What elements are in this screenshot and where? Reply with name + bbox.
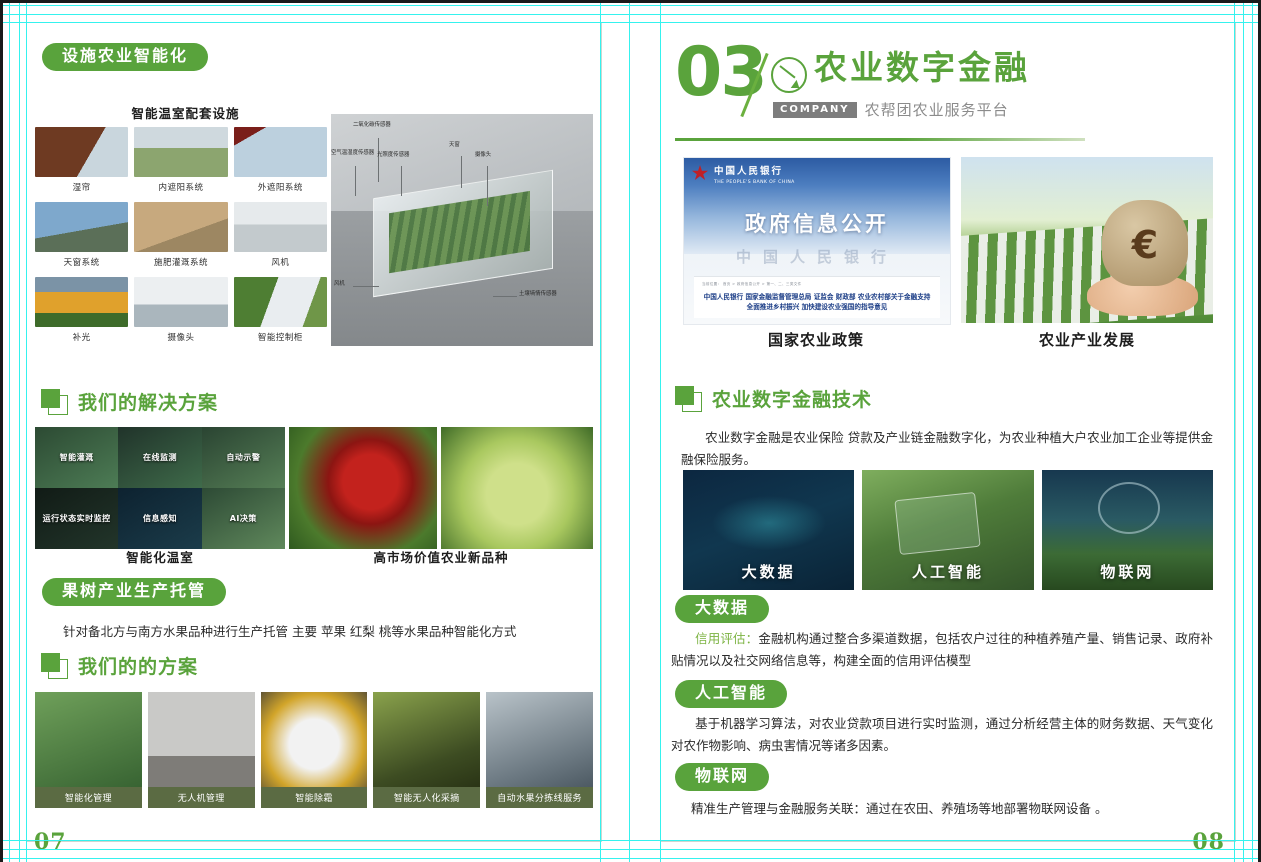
facility-thumb: [35, 202, 128, 252]
diagram-label-co2: 二氧化碳传感器: [353, 122, 391, 129]
caption-high-value-variety: 高市场价值农业新品种: [289, 547, 593, 566]
page-number-right: 08: [1192, 829, 1225, 855]
guide-horizontal: [0, 840, 1261, 841]
tech-image-label: 物联网: [1100, 561, 1154, 582]
guide-vertical: [600, 0, 601, 862]
block-text-bigdata: 信用评估：金融机构通过整合多渠道数据，包括农户过往的种植养殖产量、销售记录、政府…: [671, 628, 1213, 672]
collage-label: 智能灌溉: [60, 452, 94, 463]
facility-item-label: 天窗系统: [64, 256, 100, 268]
facility-item-label: 外遮阳系统: [258, 181, 303, 193]
plan-item-label: 智能除霜: [261, 787, 368, 808]
bank-policy-title: 中国人民银行 国家金融监督管理总局 证监会 财政部 农业农村部关于金融支持全面推…: [702, 292, 932, 312]
facility-thumb: [234, 202, 327, 252]
guide-vertical: [1243, 0, 1244, 862]
guide-vertical: [9, 0, 10, 862]
callout-line: [487, 166, 488, 206]
facility-item: 内遮阳系统: [134, 127, 227, 198]
bank-article-card: 当前位置： 首页 > 政府信息公开 > 第一、二、三类文件 中国人民银行 国家金…: [694, 276, 940, 318]
tech-image-ai: 人工智能: [862, 470, 1033, 590]
callout-line: [355, 166, 356, 196]
fintech-intro-paragraph: 农业数字金融是农业保险 贷款及产业链金融数字化，为农业种植大户农业加工企业等提供…: [681, 427, 1213, 471]
diagram-label-text: 空气温湿度传感器: [331, 150, 374, 157]
guide-horizontal: [0, 22, 1261, 23]
collage-label: 信息感知: [143, 513, 177, 524]
page-edge-top: [0, 0, 1261, 3]
collage-cell: 智能灌溉: [35, 427, 118, 488]
bank-banner-title: 政府信息公开: [684, 208, 950, 238]
facility-item: 施肥灌溉系统: [134, 202, 227, 273]
left-page: 设施农业智能化 智能温室配套设施 湿帘 内遮阳系统 外遮阳系统 天窗系统: [26, 22, 602, 842]
facility-item-label: 内遮阳系统: [158, 181, 203, 193]
heading-fintech: 农业数字金融技术: [675, 385, 872, 412]
block-body-iot: 精准生产管理与金融服务关联：通过在农田、养殖场等地部署物联网设备 。: [691, 801, 1107, 816]
collage-label: 自动示警: [226, 452, 260, 463]
facility-item: 摄像头: [134, 277, 227, 348]
diagram-label-text: 风机: [334, 281, 345, 288]
collage-cell: 在线监测: [118, 427, 201, 488]
guide-vertical: [19, 0, 20, 862]
greenhouse-3d-diagram: 二氧化碳传感器 空气温湿度传感器 光照度传感器 天窗 摄像头 风机: [331, 114, 593, 346]
facility-item-label: 湿帘: [73, 181, 91, 193]
facility-thumb: [134, 127, 227, 177]
guide-horizontal: [0, 5, 1261, 6]
collage-cell: 自动示警: [202, 427, 285, 488]
section-pill-facility: 设施农业智能化: [42, 43, 208, 71]
facility-item-label: 智能控制柜: [258, 331, 303, 343]
page-edge-left: [0, 0, 3, 862]
square-bullet-icon: [675, 386, 701, 411]
facility-item: 天窗系统: [35, 202, 128, 273]
facility-item-label: 施肥灌溉系统: [154, 256, 208, 268]
facility-thumb: [134, 202, 227, 252]
company-badge: COMPANY: [773, 102, 857, 118]
heading-text: 我们的的方案: [78, 652, 198, 679]
facility-grid: 湿帘 内遮阳系统 外遮阳系统 天窗系统 施肥灌溉系统 风机: [35, 127, 327, 348]
facility-item: 风机: [234, 202, 327, 273]
caption-national-policy: 国家农业政策: [683, 329, 949, 350]
bank-watermark: 中国人民银行: [684, 246, 950, 267]
collage-label: AI决策: [230, 513, 257, 524]
facility-item: 外遮阳系统: [234, 127, 327, 198]
guide-vertical: [1234, 0, 1235, 862]
guide-horizontal: [0, 849, 1261, 850]
caption-industry-development: 农业产业发展: [961, 329, 1213, 350]
facility-thumb: [234, 277, 327, 327]
facility-item-label: 补光: [73, 331, 91, 343]
block-lead-bigdata: 信用评估：: [695, 631, 758, 646]
facility-thumb: [35, 127, 128, 177]
block-pill-iot: 物联网: [675, 763, 769, 791]
section-number: 03: [675, 39, 766, 107]
callout-line: [401, 166, 402, 196]
bank-breadcrumb: 当前位置： 首页 > 政府信息公开 > 第一、二、三类文件: [702, 282, 932, 287]
tech-image-label: 人工智能: [912, 561, 984, 582]
square-bullet-icon: [41, 389, 67, 414]
pboc-emblem-icon: [692, 165, 708, 180]
section-pill-orchard: 果树产业生产托管: [42, 578, 226, 606]
facility-item-label: 风机: [271, 256, 289, 268]
section-header: 03 农业数字金融 COMPANY 农帮团农业服务平台: [675, 43, 1095, 135]
facility-thumb: [134, 277, 227, 327]
euro-money-bag-icon: [1102, 200, 1188, 286]
block-pill-bigdata: 大数据: [675, 595, 769, 623]
callout-line: [493, 296, 517, 297]
bank-name-en: THE PEOPLE'S BANK OF CHINA: [714, 180, 795, 185]
plan-image-row: 智能化管理 无人机管理 智能除霜 智能无人化采摘 自动水果分拣线服务: [35, 692, 593, 808]
diagram-label-fan: 风机: [334, 281, 345, 288]
plan-item: 智能无人化采摘: [373, 692, 480, 808]
cherry-photo: [289, 427, 437, 549]
diagram-label-skylight: 天窗: [449, 142, 460, 149]
bank-logo-en-wrap: THE PEOPLE'S BANK OF CHINA: [714, 180, 795, 185]
collage-cell: AI决策: [202, 488, 285, 549]
collage-label: 在线监测: [143, 452, 177, 463]
diagram-label-text: 土壤墒情传感器: [519, 291, 557, 298]
facility-thumb: [234, 127, 327, 177]
plan-item-label: 智能无人化采摘: [373, 787, 480, 808]
tech-image-bigdata: 大数据: [683, 470, 854, 590]
plan-item: 无人机管理: [148, 692, 255, 808]
diagram-label-temp-humidity: 空气温湿度传感器: [331, 150, 374, 157]
collage-cell: 运行状态实时监控: [35, 488, 118, 549]
diagram-label-soil: 土壤墒情传感器: [519, 291, 557, 298]
guide-horizontal: [0, 858, 1261, 859]
diagram-label-camera: 摄像头: [475, 152, 491, 159]
caption-smart-greenhouse: 智能化温室: [35, 547, 285, 566]
plan-item: 智能化管理: [35, 692, 142, 808]
section-title: 农业数字金融: [814, 51, 1030, 84]
diagram-label-illuminance: 光照度传感器: [377, 152, 409, 159]
square-bullet-icon: [41, 653, 67, 678]
collage-label: 运行状态实时监控: [43, 513, 111, 524]
facility-grid-title: 智能温室配套设施: [43, 103, 328, 122]
facility-item: 补光: [35, 277, 128, 348]
company-subtitle: 农帮团农业服务平台: [865, 99, 1009, 120]
heading-our-plan: 我们的的方案: [41, 652, 198, 679]
facility-item: 智能控制柜: [234, 277, 327, 348]
callout-line: [353, 286, 379, 287]
plan-item-label: 智能化管理: [35, 787, 142, 808]
facility-thumb: [35, 277, 128, 327]
facility-item: 湿帘: [35, 127, 128, 198]
tech-image-label: 大数据: [742, 561, 796, 582]
heading-text: 农业数字金融技术: [712, 385, 872, 412]
heading-text: 我们的解决方案: [78, 388, 218, 415]
callout-line: [378, 138, 379, 182]
guide-vertical: [26, 0, 27, 862]
bank-policy-image: 中国人民银行 THE PEOPLE'S BANK OF CHINA 政府信息公开…: [683, 157, 951, 325]
block-pill-ai: 人工智能: [675, 680, 787, 708]
bank-logo: 中国人民银行: [692, 165, 783, 180]
guide-vertical: [1252, 0, 1253, 862]
right-page: 03 农业数字金融 COMPANY 农帮团农业服务平台 中国人民银行 THE P…: [660, 22, 1236, 842]
block-text-ai: 基于机器学习算法，对农业贷款项目进行实时监测，通过分析经营主体的财务数据、天气变…: [671, 713, 1213, 757]
heading-our-solution: 我们的解决方案: [41, 388, 218, 415]
tech-image-iot: 物联网: [1042, 470, 1213, 590]
tech-image-row: 大数据 人工智能 物联网: [683, 470, 1213, 590]
guide-vertical: [629, 0, 630, 862]
solution-collage: 智能灌溉 在线监测 自动示警 运行状态实时监控 信息感知 AI决策: [35, 427, 285, 549]
diagram-label-text: 摄像头: [475, 152, 491, 159]
clock-circle-icon: [771, 57, 807, 93]
fintech-intro-text: 农业数字金融是农业保险 贷款及产业链金融数字化，为农业种植大户农业加工企业等提供…: [681, 430, 1213, 467]
facility-item-label: 摄像头: [167, 331, 194, 343]
collage-cell: 信息感知: [118, 488, 201, 549]
guide-horizontal: [0, 14, 1261, 15]
block-text-iot: 精准生产管理与金融服务关联：通过在农田、养殖场等地部署物联网设备 。: [691, 798, 1211, 820]
guide-vertical: [660, 0, 661, 862]
plan-item: 自动水果分拣线服务: [486, 692, 593, 808]
diagram-label-text: 天窗: [449, 142, 460, 149]
block-body-ai: 基于机器学习算法，对农业贷款项目进行实时监测，通过分析经营主体的财务数据、天气变…: [671, 716, 1213, 753]
agriculture-finance-image: [961, 157, 1213, 323]
plan-item: 智能除霜: [261, 692, 368, 808]
company-line: COMPANY 农帮团农业服务平台: [773, 99, 1009, 120]
bank-name-cn: 中国人民银行: [714, 167, 783, 178]
diagram-label-text: 二氧化碳传感器: [353, 122, 391, 129]
page-number-left: 07: [34, 829, 67, 855]
plan-item-label: 自动水果分拣线服务: [486, 787, 593, 808]
plan-item-label: 无人机管理: [148, 787, 255, 808]
spread-canvas: 设施农业智能化 智能温室配套设施 湿帘 内遮阳系统 外遮阳系统 天窗系统: [0, 0, 1261, 862]
apple-photo: [441, 427, 593, 549]
callout-line: [461, 156, 462, 188]
header-rule: [675, 138, 1085, 141]
diagram-label-text: 光照度传感器: [377, 152, 409, 159]
orchard-paragraph: 针对备北方与南方水果品种进行生产托管 主要 苹果 红梨 桃等水果品种智能化方式: [63, 621, 583, 640]
